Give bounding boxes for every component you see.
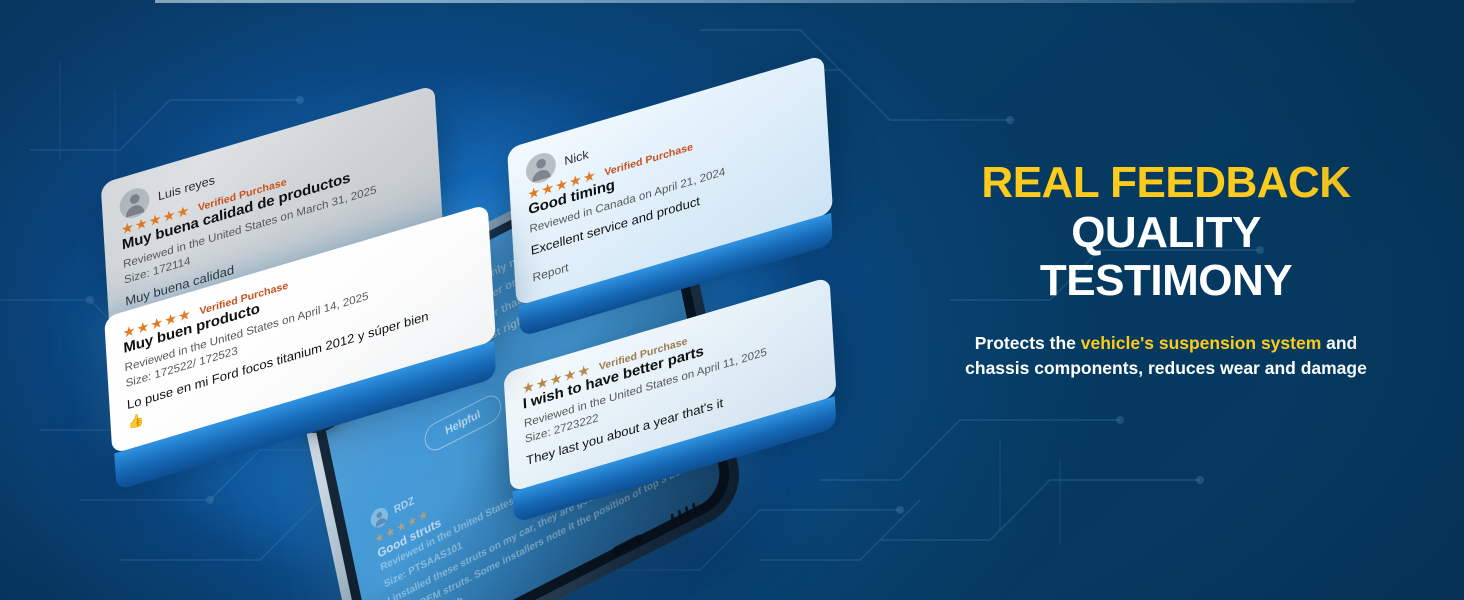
reviewer-name: Nick [564, 147, 589, 168]
subtitle-highlight: vehicle's suspension system [1081, 333, 1322, 353]
headline-primary: REAL FEEDBACK [956, 160, 1376, 207]
subtitle: Protects the vehicle's suspension system… [956, 331, 1376, 381]
top-divider-line [155, 0, 1355, 3]
subtitle-part-1: Protects the [975, 333, 1081, 353]
headline-secondary: QUALITY TESTIMONY [956, 209, 1376, 306]
marketing-copy-block: REAL FEEDBACK QUALITY TESTIMONY Protects… [956, 160, 1376, 381]
banner-stage: door. It just was the original, I only n… [0, 0, 1464, 600]
